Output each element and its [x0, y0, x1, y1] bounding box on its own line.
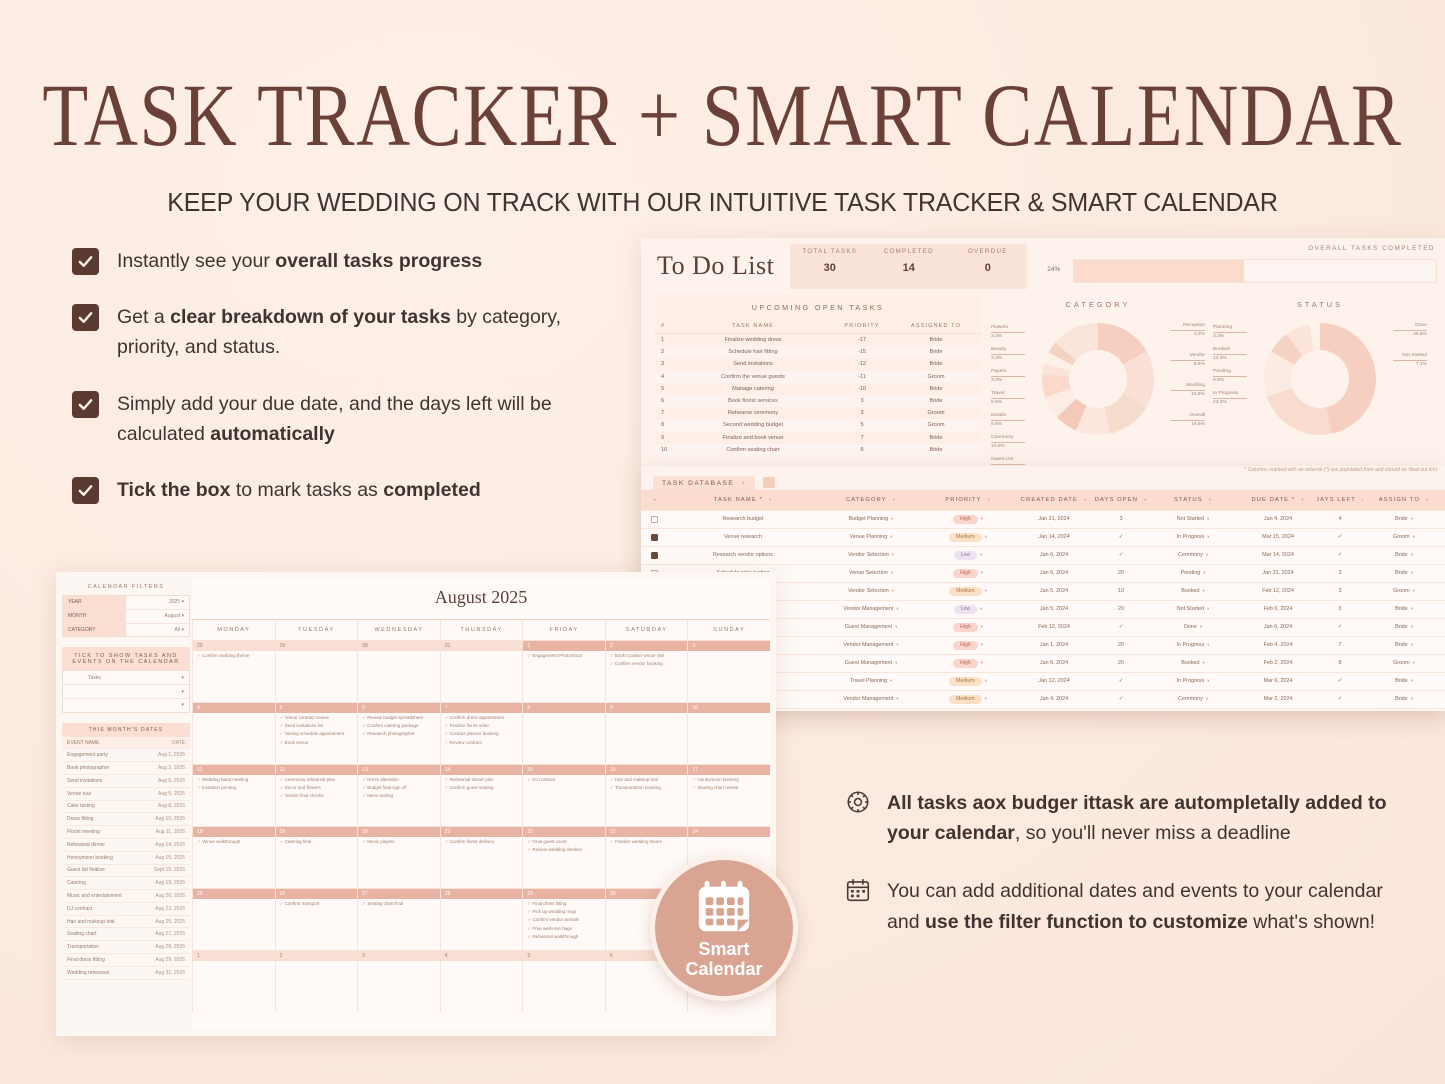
calendar-day-cell[interactable]: 14✓ Rehearsal dinner plan✓ Confirm guest… — [440, 764, 523, 826]
column-header-tc-cre[interactable]: CREATED DATE▾ — [1013, 490, 1095, 510]
cell-due-date: Feb 12, 2024 — [1239, 583, 1317, 600]
row-checkbox[interactable] — [641, 547, 667, 564]
table-row: Venue researchVenue Planning▾Medium▾Jan … — [641, 529, 1445, 547]
calendar-event[interactable]: ✓ Transportation booking — [606, 784, 688, 792]
info-note-text: You can add additional dates and events … — [887, 876, 1405, 936]
cell-assign-to[interactable]: Bride▾ — [1363, 691, 1445, 708]
cell-due-date: Jan 6, 2024 — [1239, 619, 1317, 636]
table-cell: -12 — [827, 361, 897, 367]
calendar-day-cell[interactable]: 3 — [687, 640, 770, 702]
day-number: 3 — [688, 641, 770, 651]
info-note: You can add additional dates and events … — [845, 876, 1405, 936]
calendar-icon — [693, 877, 755, 937]
cell-assign-to[interactable]: Bride▾ — [1363, 511, 1445, 528]
row-checkbox[interactable] — [641, 529, 667, 546]
calendar-day-cell[interactable]: 1✓ Engagement Photoshoot — [522, 640, 605, 702]
page-title: TASK TRACKER + SMART CALENDAR — [0, 72, 1445, 161]
table-cell: 8 — [661, 422, 679, 428]
kpi-card: COMPLETED14 — [869, 244, 948, 289]
calendar-event[interactable]: ✓ Music playlist — [358, 837, 440, 845]
toggle-row[interactable]: Tasks▾ — [63, 671, 189, 685]
calendar-day-cell[interactable]: 16✓ Hair and makeup trial✓ Transportatio… — [605, 764, 688, 826]
cell-status[interactable]: Ceremony▾ — [1147, 547, 1239, 564]
table-cell: Second wedding budget — [679, 422, 827, 428]
chevron-down-icon[interactable]: ▾ — [769, 497, 772, 503]
feature-bullet: Tick the box to mark tasks as completed — [72, 475, 642, 505]
calendar-event[interactable]: ✓ Book location venue visit — [606, 651, 688, 659]
cell-days-open: 3 — [1095, 511, 1147, 528]
feature-bullet-text: Simply add your due date, and the days l… — [117, 389, 622, 449]
calendar-day-cell[interactable]: 9 — [605, 702, 688, 764]
donut-legend-item: Not Started7.1% — [1393, 352, 1427, 368]
calendar-weekday-header: MONDAYTUESDAYWEDNESDAYTHURSDAYFRIDAYSATU… — [192, 619, 770, 640]
day-number: 26 — [276, 889, 358, 899]
tab-label: TASK DATABASE — [662, 480, 734, 487]
event-date: Aug 11, 2025 — [156, 829, 185, 835]
calendar-day-cell[interactable]: 8 — [522, 702, 605, 764]
cell-assign-to[interactable]: Bride▾ — [1363, 619, 1445, 636]
cell-category[interactable]: Vendor Management▾ — [819, 637, 923, 654]
kpi-value: 30 — [790, 262, 869, 274]
event-name: Wedding rehearsal — [67, 970, 109, 976]
calendar-day-cell[interactable]: 1 — [192, 950, 275, 1012]
calendar-event[interactable]: ✓ Confirm vendor booking — [606, 660, 688, 668]
day-number: 17 — [688, 765, 770, 775]
column-header-tc-pri[interactable]: PRIORITY▾ — [923, 490, 1013, 510]
cell-category[interactable]: Vendor Management▾ — [819, 601, 923, 618]
donut-legend-item: Booked13.3% — [1213, 346, 1247, 362]
column-header-tc-dle[interactable]: DAYS LEFT▾ — [1317, 490, 1363, 510]
calendar-day-cell[interactable]: 2✓ Book location venue visit✓ Confirm ve… — [605, 640, 688, 702]
cell-days-open: 20 — [1095, 565, 1147, 582]
calendar-event[interactable]: ✓ Confirm florist delivery — [441, 837, 523, 845]
weekday-header: TUESDAY — [275, 620, 358, 640]
kpi-value: 0 — [948, 262, 1027, 274]
cell-priority[interactable]: Low▾ — [923, 601, 1013, 618]
list-item: Venue tourAug 5, 2025 — [62, 788, 190, 801]
table-cell: Groom — [897, 422, 975, 428]
calendar-event[interactable]: ✓ Wedding band meeting — [193, 775, 275, 783]
cell-category[interactable]: Budget Planning▾ — [819, 511, 923, 528]
list-item: Final dress fittingAug 29, 2025 — [62, 954, 190, 967]
calendar-day-cell[interactable]: 4 — [440, 950, 523, 1012]
cell-priority[interactable]: Medium▾ — [923, 673, 1013, 690]
calendar-event[interactable]: ✓ Menu tasting — [358, 792, 440, 800]
cell-days-left: -12 — [1317, 709, 1363, 711]
progress-fill — [1074, 260, 1244, 282]
calendar-day-cell[interactable]: 4 — [192, 702, 275, 764]
cell-task-name: Research vendor options — [667, 547, 819, 564]
calendar-event[interactable]: ✓ Confirm vendor arrivals — [523, 916, 605, 924]
event-name: Guest list finalize — [67, 867, 105, 873]
day-number: 20 — [358, 827, 440, 837]
calendar-event[interactable]: ✓ Finalize florist order — [441, 722, 523, 730]
donut-chart: STATUSPlanning3.3%Booked13.3%Pending6.6%… — [1209, 294, 1431, 456]
table-cell: 6 — [661, 398, 679, 404]
cell-category[interactable]: Venue Selection▾ — [819, 565, 923, 582]
calendar-event[interactable]: ✓ Decor and flowers — [276, 784, 358, 792]
cell-assign-to[interactable]: Bride▾ — [1363, 547, 1445, 564]
weekday-header: FRIDAY — [522, 620, 605, 640]
calendar-sidebar: CALENDAR FILTERSYEAR2025 ▾MONTHAugust ▾C… — [62, 578, 190, 1030]
cell-priority[interactable]: High▾ — [923, 655, 1013, 672]
cell-assign-to[interactable]: Bride▾ — [1363, 637, 1445, 654]
calendar-event[interactable]: ✓ Seating chart review — [688, 784, 770, 792]
calendar-event[interactable]: ✓ Budget final sign off — [358, 784, 440, 792]
calendar-event[interactable]: ✓ Pick up wedding rings — [523, 908, 605, 916]
upcoming-title: UPCOMING OPEN TASKS — [655, 294, 981, 320]
donut-legend-item: Beauty3.3% — [991, 346, 1025, 362]
cell-status[interactable]: In Progress▾ — [1147, 529, 1239, 546]
calendar-day-cell[interactable]: 29 — [275, 640, 358, 702]
calendar-event[interactable]: ✓ Vendor final checks — [276, 792, 358, 800]
day-number: 22 — [523, 827, 605, 837]
donut-legend-item: Travel6.6% — [991, 390, 1025, 406]
table-cell: 5 — [827, 422, 897, 428]
calendar-event[interactable]: ✓ Send invitations list — [276, 722, 358, 730]
column-header-tc-asg[interactable]: ASSIGN TO▾ — [1363, 490, 1445, 510]
kpi-label: OVERDUE — [948, 248, 1027, 255]
progress-label: OVERALL TASKS COMPLETED — [1308, 245, 1435, 252]
calendar-event[interactable]: ✓ Confirm transport — [276, 899, 358, 907]
cell-created-date: Jan 5, 2024 — [1013, 583, 1095, 600]
calendar-day-cell[interactable]: 29✓ Final dress fitting✓ Pick up wedding… — [522, 888, 605, 950]
check-icon — [77, 309, 94, 326]
calendar-day-cell[interactable]: 27✓ Seating chart final — [357, 888, 440, 950]
cell-priority[interactable]: Medium▾ — [923, 583, 1013, 600]
calendar-event[interactable]: ✓ Rehearsal dinner plan — [441, 775, 523, 783]
calendar-event[interactable]: ✓ Hair and makeup trial — [606, 775, 688, 783]
select-all-cell[interactable]: ▾ — [641, 490, 667, 510]
cell-due-date: Mar 15, 2024 — [1239, 529, 1317, 546]
toggle-check[interactable]: ▾ — [126, 699, 189, 712]
calendar-event[interactable]: ✓ DJ contract — [523, 775, 605, 783]
cell-due-date: Mar 2, 2024 — [1239, 691, 1317, 708]
table-cell: -15 — [827, 349, 897, 355]
sidebar-filters-title: CALENDAR FILTERS — [62, 578, 190, 595]
dashboard-header: To Do List TOTAL TASKS30COMPLETED14OVERD… — [641, 238, 1445, 294]
save-icon[interactable] — [763, 477, 775, 488]
cell-priority[interactable]: High▾ — [923, 619, 1013, 636]
cell-days-left: 7 — [1317, 637, 1363, 654]
calendar-event[interactable]: ✓ Invitation printing — [193, 784, 275, 792]
cell-assign-to[interactable]: Groom▾ — [1363, 529, 1445, 546]
calendar-event[interactable]: ✓ Review contract — [441, 738, 523, 746]
calendar-event[interactable]: ✓ Engagement Photoshoot — [523, 651, 605, 659]
cell-category[interactable]: Vendor Management▾ — [819, 691, 923, 708]
cell-assign-to[interactable]: Groom▾ — [1363, 583, 1445, 600]
calendar-day-cell[interactable]: 2 — [275, 950, 358, 1012]
calendar-day-cell[interactable]: 17✓ Honeymoon booking✓ Seating chart rev… — [687, 764, 770, 826]
calendar-day-cell[interactable]: 28✓ Confirm wedding theme — [192, 640, 275, 702]
event-name: Music and entertainment — [67, 893, 122, 899]
day-number: 23 — [606, 827, 688, 837]
column-header-tc-due[interactable]: DUE DATE *▾ — [1239, 490, 1317, 510]
table-cell: 5 — [661, 386, 679, 392]
day-number: 18 — [193, 827, 275, 837]
table-row: 10Confirm seating chart8Bride — [655, 444, 981, 456]
cell-status[interactable]: Booked▾ — [1147, 655, 1239, 672]
table-cell: Finalize wedding dress — [679, 337, 827, 343]
cell-priority[interactable]: Medium▾ — [923, 529, 1013, 546]
event-name: Final dress fitting — [67, 957, 105, 963]
upcoming-columns: #TASK NAMEPRIORITYASSIGNED TO — [655, 320, 981, 334]
cell-assign-to[interactable]: Groom▾ — [1363, 655, 1445, 672]
calendar-event[interactable]: ✓ Confirm guest seating — [441, 784, 523, 792]
calendar-day-cell[interactable]: 15✓ DJ contract — [522, 764, 605, 826]
filter-label: MONTH — [63, 610, 126, 623]
table-row: 7Rehearse ceremony3Groom — [655, 407, 981, 419]
toggle-row[interactable]: ▾ — [63, 699, 189, 712]
table-cell: Rehearse ceremony — [679, 410, 827, 416]
cell-days-open: 20 — [1095, 601, 1147, 618]
sidebar-list-title: THIS MONTH'S DATES — [62, 723, 190, 737]
cell-assign-to[interactable]: Bride▾ — [1363, 601, 1445, 618]
cell-category[interactable]: Guest Management▾ — [819, 619, 923, 636]
badge-line-1: Smart — [698, 939, 749, 959]
calendar-day-cell[interactable]: 22✓ Final guest count✓ Review wedding ti… — [522, 826, 605, 888]
donut-legend-item: Details6.6% — [991, 412, 1025, 428]
cell-status[interactable]: Done▾ — [1147, 619, 1239, 636]
cell-days-left: ✓ — [1317, 529, 1363, 546]
filter-value[interactable]: 2025 ▾ — [126, 596, 189, 609]
calendar-icon — [845, 877, 871, 903]
calendar-day-cell[interactable]: 26✓ Confirm transport — [275, 888, 358, 950]
calendar-day-cell[interactable]: 6✓ Review budget spreadsheet✓ Confirm ca… — [357, 702, 440, 764]
list-item: Book photographerAug 3, 2025 — [62, 762, 190, 775]
filter-row[interactable]: YEAR2025 ▾ — [63, 596, 189, 610]
day-number: 29 — [523, 889, 605, 899]
cell-category[interactable]: Guest Management▾ — [819, 655, 923, 672]
day-number: 4 — [441, 951, 523, 961]
overall-progress: OVERALL TASKS COMPLETED 24% — [1049, 244, 1445, 289]
calendar-event[interactable]: ✓ Book venue — [276, 738, 358, 746]
calendar-event[interactable]: ✓ Final dress fitting — [523, 899, 605, 907]
feature-bullet: Get a clear breakdown of your tasks by c… — [72, 302, 642, 362]
event-name: Cake tasting — [67, 803, 95, 809]
cell-priority[interactable]: Medium▾ — [923, 709, 1013, 711]
calendar-event[interactable]: ✓ Confirm wedding theme — [193, 651, 275, 659]
cell-category[interactable]: Guest Management▾ — [819, 709, 923, 711]
weekday-header: MONDAY — [192, 620, 275, 640]
calendar-day-cell[interactable]: 25 — [192, 888, 275, 950]
calendar-day-cell[interactable]: 28 — [440, 888, 523, 950]
calendar-day-cell[interactable]: 5 — [522, 950, 605, 1012]
weekday-header: WEDNESDAY — [357, 620, 440, 640]
calendar-day-cell[interactable]: 11✓ Wedding band meeting✓ Invitation pri… — [192, 764, 275, 826]
table-cell: 4 — [661, 374, 679, 380]
calendar-event[interactable]: ✓ Final guest count — [523, 837, 605, 845]
chevron-down-icon[interactable]: ▾ — [1209, 497, 1212, 503]
event-date: Aug 22, 2025 — [155, 906, 185, 912]
calendar-day-cell[interactable]: 19✓ Catering final — [275, 826, 358, 888]
cell-assign-to[interactable]: Bride▾ — [1363, 565, 1445, 582]
cell-priority[interactable]: High▾ — [923, 637, 1013, 654]
calendar-event[interactable]: ✓ Venue contract review — [276, 713, 358, 721]
chevron-down-icon[interactable]: ▾ — [1084, 497, 1087, 503]
check-icon — [77, 396, 94, 413]
calendar-event[interactable]: ✓ Review budget spreadsheet — [358, 713, 440, 721]
list-item: Engagement partyAug 1, 2025 — [62, 749, 190, 762]
gear-icon — [845, 789, 871, 815]
calendar-day-cell[interactable]: 5✓ Venue contract review✓ Send invitatio… — [275, 702, 358, 764]
column-header-tc-name[interactable]: TASK NAME *▾ — [667, 490, 819, 510]
cell-category[interactable]: Venue Planning▾ — [819, 529, 923, 546]
filter-value[interactable]: All ▾ — [126, 624, 189, 637]
calendar-day-cell[interactable]: 21✓ Confirm florist delivery — [440, 826, 523, 888]
dashboard-title: To Do List — [657, 251, 774, 281]
list-item: CateringAug 19, 2025 — [62, 877, 190, 890]
chevron-down-icon[interactable]: ▾ — [1301, 497, 1304, 503]
list-item: Hair and makeup trialAug 25, 2025 — [62, 916, 190, 929]
cell-category[interactable]: Vendor Selection▾ — [819, 583, 923, 600]
calendar-event[interactable]: ✓ Prep welcome bags — [523, 924, 605, 932]
feature-bullet: Simply add your due date, and the days l… — [72, 389, 642, 449]
cell-assign-to[interactable]: Groom▾ — [1363, 709, 1445, 711]
cell-priority[interactable]: High▾ — [923, 511, 1013, 528]
checkbox-checked-icon — [72, 391, 99, 418]
toggle-label — [63, 685, 126, 698]
day-number: 30 — [358, 641, 440, 651]
cell-days-left: ✓ — [1317, 619, 1363, 636]
cell-due-date: Feb 4, 2024 — [1239, 637, 1317, 654]
list-item: Wedding rehearsalAug 31, 2025 — [62, 967, 190, 980]
column-header-tc-dop[interactable]: DAYS OPEN▾ — [1095, 490, 1147, 510]
filter-row[interactable]: MONTHAugust ▾ — [63, 610, 189, 624]
calendar-day-cell[interactable]: 13✓ Dress alteration✓ Budget final sign … — [357, 764, 440, 826]
cell-status[interactable]: In Progress▾ — [1147, 637, 1239, 654]
cell-days-open: ✓ — [1095, 529, 1147, 546]
cell-priority[interactable]: High▾ — [923, 565, 1013, 582]
event-date: Aug 5, 2025 — [158, 778, 185, 784]
donut-legend-item: Flowers3.3% — [991, 324, 1025, 340]
calendar-day-cell[interactable]: 12✓ Ceremony rehearsal plan✓ Decor and f… — [275, 764, 358, 826]
day-number: 27 — [358, 889, 440, 899]
cell-days-left: 4 — [1317, 511, 1363, 528]
day-number: 2 — [276, 951, 358, 961]
cell-created-date: Feb 12, 2024 — [1013, 619, 1095, 636]
upcoming-rows: 1Finalize wedding dress-17Bride2Schedule… — [655, 334, 981, 456]
filter-row[interactable]: CATEGORYAll ▾ — [63, 624, 189, 637]
list-item: Guest list finalizeSept 15, 2025 — [62, 865, 190, 878]
calendar-day-cell[interactable]: 10 — [687, 702, 770, 764]
list-item: Florist meetingAug 11, 2025 — [62, 826, 190, 839]
event-date: Aug 19, 2025 — [155, 880, 185, 886]
table-cell: 10 — [661, 447, 679, 453]
calendar-day-cell[interactable]: 31 — [440, 640, 523, 702]
day-number: 1 — [193, 951, 275, 961]
calendar-event[interactable]: ✓ Rehearsal walkthrough — [523, 932, 605, 940]
day-number: 7 — [441, 703, 523, 713]
cell-days-left: 3 — [1317, 565, 1363, 582]
calendar-event[interactable]: ✓ Honeymoon booking — [688, 775, 770, 783]
cell-created-date: Jan 4, 2024 — [1013, 691, 1095, 708]
table-cell: Bride — [897, 386, 975, 392]
cell-category[interactable]: Travel Planning▾ — [819, 673, 923, 690]
event-date: Aug 15, 2025 — [155, 855, 185, 861]
calendar-day-cell[interactable]: 7✓ Confirm dress appointment✓ Finalize f… — [440, 702, 523, 764]
calendar-event[interactable]: ✓ Finalize wedding favors — [606, 837, 688, 845]
calendar-day-cell[interactable]: 30 — [357, 640, 440, 702]
toggle-row[interactable]: ▾ — [63, 685, 189, 699]
donut-legend-item: Reception3.3% — [1171, 322, 1205, 338]
chevron-down-icon[interactable]: ▾ — [1426, 497, 1429, 503]
event-date: Aug 10, 2025 — [155, 816, 185, 822]
page-subtitle: KEEP YOUR WEDDING ON TRACK WITH OUR INTU… — [14, 189, 1430, 218]
table-row: 8Second wedding budget5Groom — [655, 419, 981, 431]
day-number: 11 — [193, 765, 275, 775]
cell-assign-to[interactable]: Bride▾ — [1363, 673, 1445, 690]
cell-created-date: Jan 6, 2024 — [1013, 565, 1095, 582]
calendar-event[interactable]: ✓ Catering final — [276, 837, 358, 845]
chevron-down-icon[interactable]: ▾ — [893, 497, 896, 503]
calendar-event[interactable]: ✓ Dress alteration — [358, 775, 440, 783]
cell-status[interactable]: Pending▾ — [1147, 565, 1239, 582]
donut-legend-item: Done46.6% — [1393, 322, 1427, 338]
table-cell: 9 — [661, 435, 679, 441]
event-name: Seating chart — [67, 931, 96, 937]
kpi-label: TOTAL TASKS — [790, 248, 869, 255]
task-database-tabbar: TASK DATABASE ▾ — [641, 473, 1445, 490]
chevron-down-icon[interactable]: ▾ — [987, 497, 990, 503]
day-number: 14 — [441, 765, 523, 775]
kpi-value: 14 — [869, 262, 948, 274]
feature-bullet-list: Instantly see your overall tasks progres… — [72, 246, 642, 531]
cell-days-left: ✓ — [1317, 673, 1363, 690]
cell-status[interactable]: Not Started▾ — [1147, 511, 1239, 528]
calendar-event[interactable]: ✓ Venue walkthrough — [193, 837, 275, 845]
cell-created-date: Jan 14, 2024 — [1013, 529, 1095, 546]
row-checkbox[interactable] — [641, 511, 667, 528]
gear-icon — [845, 789, 871, 815]
cell-status[interactable]: In Progress▾ — [1147, 709, 1239, 711]
table-cell: Book florist services — [679, 398, 827, 404]
calendar-event[interactable]: ✓ Review wedding timeline — [523, 846, 605, 854]
donut-legend-item: Pending6.6% — [1213, 368, 1247, 384]
filter-value[interactable]: August ▾ — [126, 610, 189, 623]
toggle-check[interactable]: ▾ — [126, 685, 189, 698]
calendar-event[interactable]: ✓ Confirm dress appointment — [441, 713, 523, 721]
calendar-event[interactable]: ✓ Ceremony rehearsal plan — [276, 775, 358, 783]
info-note-text: All tasks aox budger ittask are automple… — [887, 788, 1405, 848]
tab-task-database[interactable]: TASK DATABASE ▾ — [653, 476, 755, 490]
cell-priority[interactable]: Medium▾ — [923, 691, 1013, 708]
toggle-check[interactable]: ▾ — [126, 671, 189, 684]
cell-status[interactable]: Ceremony▾ — [1147, 691, 1239, 708]
cell-status[interactable]: In Progress▾ — [1147, 673, 1239, 690]
cell-category[interactable]: Vendor Selection▾ — [819, 547, 923, 564]
calendar-day-cell[interactable]: 3 — [357, 950, 440, 1012]
calendar-event[interactable]: ✓ Seating chart final — [358, 899, 440, 907]
column-header-tc-sta[interactable]: STATUS▾ — [1147, 490, 1239, 510]
cell-priority[interactable]: Low▾ — [923, 547, 1013, 564]
day-number: 28 — [193, 641, 275, 651]
cell-days-left: ✓ — [1317, 691, 1363, 708]
calendar-day-cell[interactable]: 18✓ Venue walkthrough — [192, 826, 275, 888]
calendar-day-cell[interactable]: 20✓ Music playlist — [357, 826, 440, 888]
calendar-event[interactable]: ✓ Tasting schedule appointment — [276, 730, 358, 738]
calendar-event[interactable]: ✓ Contact planner booking — [441, 730, 523, 738]
column-header-tc-cat[interactable]: CATEGORY▾ — [819, 490, 923, 510]
table-cell: Confirm seating chart — [679, 447, 827, 453]
donut-legend-item: Overall16.6% — [1171, 412, 1205, 428]
cell-status[interactable]: Booked▾ — [1147, 583, 1239, 600]
calendar-event[interactable]: ✓ Confirm catering package — [358, 722, 440, 730]
cell-status[interactable]: Not Started▾ — [1147, 601, 1239, 618]
chevron-down-icon[interactable]: ▾ — [742, 480, 746, 486]
donut-legend-item: Papers3.3% — [991, 368, 1025, 384]
calendar-event[interactable]: ✓ Research photographer — [358, 730, 440, 738]
